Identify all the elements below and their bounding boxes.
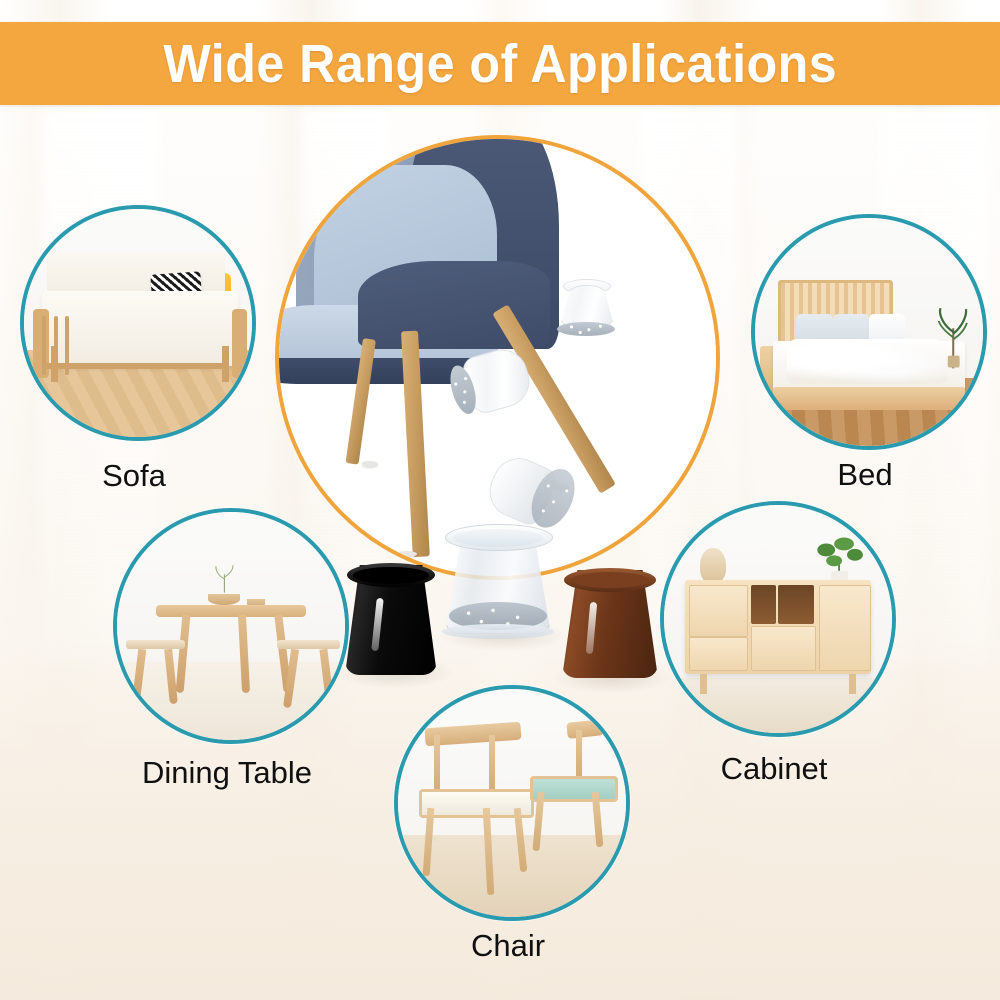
product-clear-chair-leg-cap[interactable] xyxy=(445,528,551,634)
cabinet-door-center xyxy=(751,626,817,671)
application-circle-sofa[interactable] xyxy=(20,205,256,441)
hero-cap-upright xyxy=(555,279,617,339)
application-label-cabinet: Cabinet xyxy=(677,753,871,784)
bed-frame xyxy=(773,387,965,410)
sofa-seat xyxy=(42,291,238,366)
chair-1-back-post xyxy=(434,735,440,794)
cabinet-leg-right xyxy=(849,674,856,695)
cabinet-open-shelf-2 xyxy=(778,585,814,624)
infographic-stage: Wide Range of Applications xyxy=(0,0,1000,1000)
chair-room-floor xyxy=(398,835,626,917)
sofa-leg-right xyxy=(222,346,229,382)
product-clear-rim-inner xyxy=(453,529,542,547)
application-circle-chair[interactable] xyxy=(394,685,630,921)
application-label-chair: Chair xyxy=(411,930,605,961)
application-label-sofa: Sofa xyxy=(37,460,231,491)
product-brown-chair-leg-cap[interactable] xyxy=(562,570,658,678)
bed-duvet xyxy=(787,339,947,385)
cabinet-door-upper-left xyxy=(689,585,748,637)
cabinet-vase xyxy=(700,548,725,582)
chair-2-back-post xyxy=(576,730,582,780)
cabinet-room-floor xyxy=(664,678,892,733)
sofa-bottom-rail xyxy=(42,363,224,369)
dining-chair-right-seat xyxy=(277,640,341,649)
hero-cap-upright-pad xyxy=(557,322,615,336)
product-black-chair-leg-cap[interactable] xyxy=(345,565,437,675)
application-label-dining-table: Dining Table xyxy=(97,757,357,788)
header-banner: Wide Range of Applications xyxy=(0,22,1000,105)
sofa-armrest-right xyxy=(232,309,248,377)
cabinet-open-shelf-1 xyxy=(751,585,776,624)
dining-table-top xyxy=(156,605,306,616)
page-title: Wide Range of Applications xyxy=(163,37,837,91)
application-circle-dining-table[interactable] xyxy=(113,508,349,744)
cabinet-plant xyxy=(814,537,864,583)
application-circle-cabinet[interactable] xyxy=(660,501,896,737)
dining-table-plant xyxy=(213,558,236,597)
sofa-leg-left xyxy=(51,346,58,382)
cabinet-leg-left xyxy=(700,674,707,695)
cabinet-door-lower-left xyxy=(689,637,748,671)
chair-1-back-post-2 xyxy=(489,735,495,794)
bed-plant xyxy=(935,300,971,373)
armchair-foot-2 xyxy=(397,551,417,557)
product-black-rim-inner xyxy=(353,567,428,584)
cabinet-door-right xyxy=(819,585,871,671)
application-circle-bed[interactable] xyxy=(751,214,987,450)
armchair-foot-1 xyxy=(362,461,378,467)
application-label-bed: Bed xyxy=(768,459,962,490)
dining-room-floor xyxy=(117,662,345,740)
dining-bench-left-seat xyxy=(126,640,185,649)
